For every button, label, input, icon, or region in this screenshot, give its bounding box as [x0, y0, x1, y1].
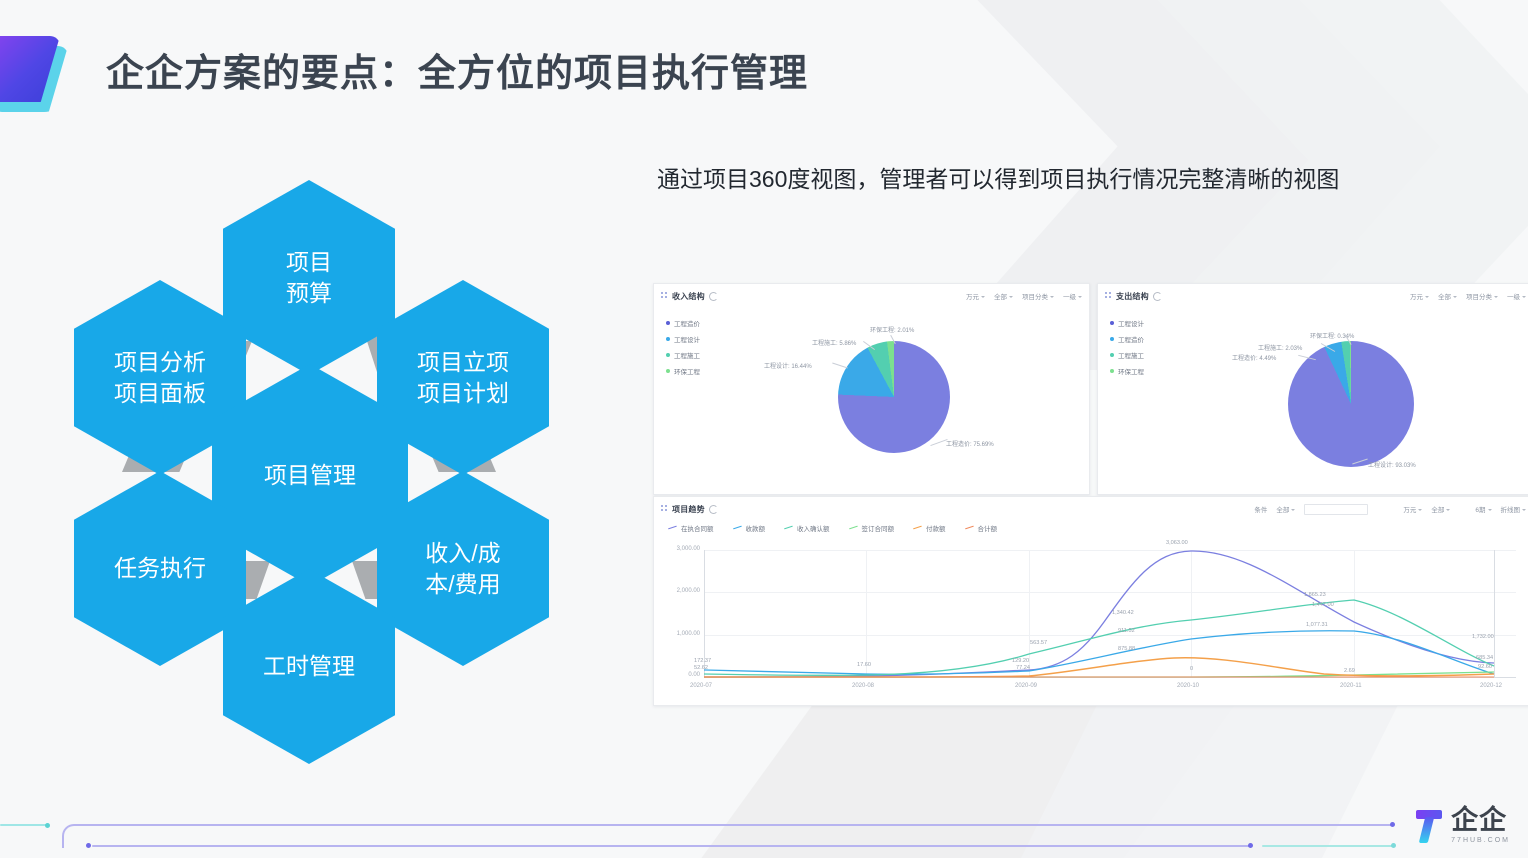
income-control-scope[interactable]: 全部: [994, 291, 1013, 301]
chevron-down-icon: [1522, 296, 1526, 298]
legend-item[interactable]: 合计额: [965, 523, 998, 533]
expense-control-unit[interactable]: 万元: [1410, 291, 1429, 301]
card-trend-title: 项目趋势: [672, 504, 705, 515]
footer-dot-cyan-right: [1391, 843, 1396, 848]
drag-handle-icon[interactable]: [661, 505, 669, 513]
expense-pie-disc: [1288, 341, 1414, 467]
legend-line-icon: [965, 526, 974, 530]
brand-text-block: 企企 77HUB.COM: [1451, 807, 1510, 844]
legend-swatch: [1110, 369, 1114, 373]
chevron-down-icon: [1418, 509, 1422, 511]
legend-swatch: [1110, 321, 1114, 325]
hexagon-budget-line2: 预算: [286, 278, 332, 309]
trend-control-charttype[interactable]: 折线图: [1501, 504, 1527, 514]
chevron-down-icon: [1078, 296, 1082, 298]
footer-dot-cyan-left: [45, 823, 50, 828]
xtick-5: 2020-12: [1480, 683, 1502, 689]
legend-line-icon: [849, 526, 858, 530]
legend-item[interactable]: 环保工程: [1110, 366, 1144, 376]
legend-item[interactable]: 签订合同额: [849, 523, 895, 533]
card-income-controls: 万元 全部 项目分类 一级: [966, 291, 1082, 301]
hexagon-finance-line2: 本/费用: [425, 569, 500, 600]
data-label: 1,732.00: [1472, 634, 1494, 640]
hexagon-task-line1: 任务执行: [114, 553, 206, 584]
trend-control-scope[interactable]: 全部: [1431, 504, 1450, 514]
xtick-4: 2020-11: [1340, 683, 1362, 689]
hexagon-analysis-line1: 项目分析: [114, 347, 206, 378]
data-label: 563.57: [1030, 640, 1047, 646]
data-label: 17.60: [857, 662, 871, 668]
ytick-2000: 2,000.00: [658, 588, 700, 594]
trend-control-periods[interactable]: 6期: [1475, 504, 1491, 514]
hexagon-finance-line1: 收入/成: [425, 538, 500, 569]
legend-line-icon: [668, 526, 677, 530]
expense-label-1: 工程设计: 93.03%: [1368, 460, 1416, 469]
expense-control-category[interactable]: 项目分类: [1466, 291, 1498, 301]
footer-brand: 企企 77HUB.COM: [1414, 807, 1510, 844]
legend-item[interactable]: 工程设计: [666, 334, 700, 344]
data-label: 52.62: [694, 665, 708, 671]
income-control-unit[interactable]: 万元: [966, 291, 985, 301]
legend-swatch: [666, 337, 670, 341]
income-label-1: 工程造价: 75.69%: [946, 439, 994, 448]
card-trend-controls: 条件 全部 万元 全部 6期 折线图: [1254, 504, 1526, 515]
trend-filter-input[interactable]: [1304, 504, 1368, 515]
ytick-0: 0.00: [658, 672, 700, 678]
expense-pie-chart: 工程设计: 93.03% 工程造价: 4.49% 工程施工: 2.03% 环保工…: [1280, 329, 1430, 479]
expense-legend: 工程设计 工程造价 工程施工 环保工程: [1110, 318, 1144, 376]
trend-control-condition-select[interactable]: 全部: [1276, 504, 1295, 514]
refresh-icon[interactable]: [709, 505, 718, 514]
footer-line-upper: [88, 824, 1393, 826]
series-line-shoukuan: [704, 631, 1494, 675]
xtick-2: 2020-09: [1015, 683, 1037, 689]
income-label-2: 工程设计: 16.44%: [764, 361, 812, 370]
footer-dot-purple-right: [1390, 822, 1395, 827]
drag-handle-icon[interactable]: [1105, 292, 1113, 300]
footer-line-cyan-right: [1262, 845, 1394, 847]
hexagon-center-label: 项目管理: [264, 460, 356, 491]
hexagon-diagram: 项目 预算 项目分析 项目面板 项目立项 项目计划 项目管理 任务执行 收入/成…: [60, 180, 620, 760]
chevron-down-icon: [1522, 509, 1526, 511]
trend-control-condition-label: 条件: [1254, 504, 1267, 514]
card-trend-header: 项目趋势 条件 全部 万元 全部 6期 折线图: [654, 497, 1528, 521]
data-label: 3,063.00: [1166, 540, 1188, 546]
card-project-trend: 项目趋势 条件 全部 万元 全部 6期 折线图 在执合同额 收款额 收入确认额 …: [653, 496, 1528, 706]
legend-item[interactable]: 收款额: [733, 523, 766, 533]
chevron-down-icon: [1291, 509, 1295, 511]
income-control-category[interactable]: 项目分类: [1022, 291, 1054, 301]
legend-item[interactable]: 工程造价: [1110, 334, 1144, 344]
card-expense-title: 支出结构: [1116, 291, 1149, 302]
card-expense-header: 支出结构 万元 全部 项目分类 一级: [1098, 284, 1528, 308]
xtick-0: 2020-07: [690, 683, 712, 689]
card-expense-controls: 万元 全部 项目分类 一级: [1410, 291, 1526, 301]
data-label: 1,077.31: [1306, 622, 1328, 628]
refresh-icon[interactable]: [1153, 292, 1162, 301]
income-pie-chart: 工程造价: 75.69% 工程设计: 16.44% 工程施工: 5.86% 环保…: [826, 329, 966, 469]
trend-series-svg: [704, 550, 1516, 678]
legend-line-icon: [784, 526, 793, 530]
hexagon-initiation-line2: 项目计划: [417, 378, 509, 409]
legend-swatch: [666, 353, 670, 357]
data-label: 172.37: [694, 658, 711, 664]
footer-line-cyan-left: [0, 824, 48, 826]
legend-item[interactable]: 收入确认额: [784, 523, 830, 533]
income-label-3: 工程施工: 5.86%: [812, 338, 856, 347]
chevron-down-icon: [1050, 296, 1054, 298]
hexagon-budget-line1: 项目: [286, 247, 332, 278]
brand-tagline: 77HUB.COM: [1451, 837, 1510, 844]
brand-logo-icon: [0, 36, 72, 114]
expense-label-3: 工程施工: 2.03%: [1258, 343, 1302, 352]
card-income-structure: 收入结构 万元 全部 项目分类 一级 工程造价 工程设计 工程施工 环保工程 工…: [653, 283, 1090, 495]
data-label: 129.20: [1012, 658, 1029, 664]
legend-swatch: [666, 321, 670, 325]
card-income-header: 收入结构 万元 全部 项目分类 一级: [654, 284, 1089, 308]
card-expense-structure: 支出结构 万元 全部 项目分类 一级 工程设计 工程造价 工程施工 环保工程 工…: [1097, 283, 1528, 495]
data-label: 911.52: [1118, 628, 1135, 634]
brand-name: 企企: [1451, 807, 1510, 834]
series-line-shouru: [704, 600, 1494, 675]
data-label: 685.34: [1476, 655, 1493, 661]
legend-item[interactable]: 工程施工: [1110, 350, 1144, 360]
income-control-level[interactable]: 一级: [1063, 291, 1082, 301]
legend-item[interactable]: 工程施工: [666, 350, 700, 360]
trend-legend: 在执合同额 收款额 收入确认额 签订合同额 付款额 合计额: [668, 523, 997, 533]
refresh-icon[interactable]: [709, 292, 718, 301]
footer-line-lower: [92, 845, 1252, 847]
card-income-title: 收入结构: [672, 291, 705, 302]
legend-line-icon: [733, 526, 742, 530]
intro-paragraph: 通过项目360度视图，管理者可以得到项目执行情况完整清晰的视图: [657, 163, 1387, 196]
chevron-down-icon: [1453, 296, 1457, 298]
legend-item[interactable]: 在执合同额: [668, 523, 714, 533]
brand-seven-icon: [1414, 808, 1444, 844]
legend-item[interactable]: 付款额: [913, 523, 946, 533]
data-label: 1,340.42: [1112, 610, 1134, 616]
legend-item[interactable]: 环保工程: [666, 366, 700, 376]
income-label-4: 环保工程: 2.01%: [870, 325, 914, 334]
trend-plot-area: 3,000.00 2,000.00 1,000.00 0.00 2020-07 …: [704, 550, 1516, 678]
ytick-1000: 1,000.00: [658, 631, 700, 637]
data-label: 1,447.00: [1312, 602, 1334, 608]
series-line-zaizhi: [704, 551, 1494, 677]
ytick-3000: 3,000.00: [658, 546, 700, 552]
legend-line-icon: [913, 526, 922, 530]
legend-swatch: [1110, 337, 1114, 341]
chevron-down-icon: [1446, 509, 1450, 511]
data-label: 2.69: [1344, 668, 1355, 674]
legend-item[interactable]: 工程设计: [1110, 318, 1144, 328]
chevron-down-icon: [981, 296, 985, 298]
chevron-down-icon: [1488, 509, 1492, 511]
data-label: 875.88: [1118, 646, 1135, 652]
xtick-3: 2020-10: [1177, 683, 1199, 689]
expense-control-level[interactable]: 一级: [1507, 291, 1526, 301]
page-title: 企企方案的要点：全方位的项目执行管理: [106, 42, 808, 97]
data-label: 77.24: [1016, 665, 1030, 671]
data-label: 1,865.23: [1304, 592, 1326, 598]
data-label: 0: [1190, 666, 1193, 672]
legend-item[interactable]: 工程造价: [666, 318, 700, 328]
drag-handle-icon[interactable]: [661, 292, 669, 300]
legend-swatch: [1110, 353, 1114, 357]
income-legend: 工程造价 工程设计 工程施工 环保工程: [666, 318, 700, 376]
footer-dot-purple-left: [86, 843, 91, 848]
expense-control-scope[interactable]: 全部: [1438, 291, 1457, 301]
chevron-down-icon: [1009, 296, 1013, 298]
chevron-down-icon: [1494, 296, 1498, 298]
income-pie-disc: [838, 341, 950, 453]
xtick-1: 2020-08: [852, 683, 874, 689]
trend-control-unit[interactable]: 万元: [1403, 504, 1422, 514]
hexagon-timesheet-line1: 工时管理: [263, 651, 355, 682]
data-label: 92.60: [1478, 664, 1492, 670]
hexagon-initiation-line1: 项目立项: [417, 347, 509, 378]
legend-swatch: [666, 369, 670, 373]
chevron-down-icon: [1425, 296, 1429, 298]
expense-label-2: 工程造价: 4.49%: [1232, 353, 1276, 362]
hexagon-analysis-line2: 项目面板: [114, 378, 206, 409]
brand-seven-leg: [1419, 817, 1434, 843]
footer-dot-purple-mid: [1248, 843, 1253, 848]
income-leader-2: [832, 363, 848, 369]
